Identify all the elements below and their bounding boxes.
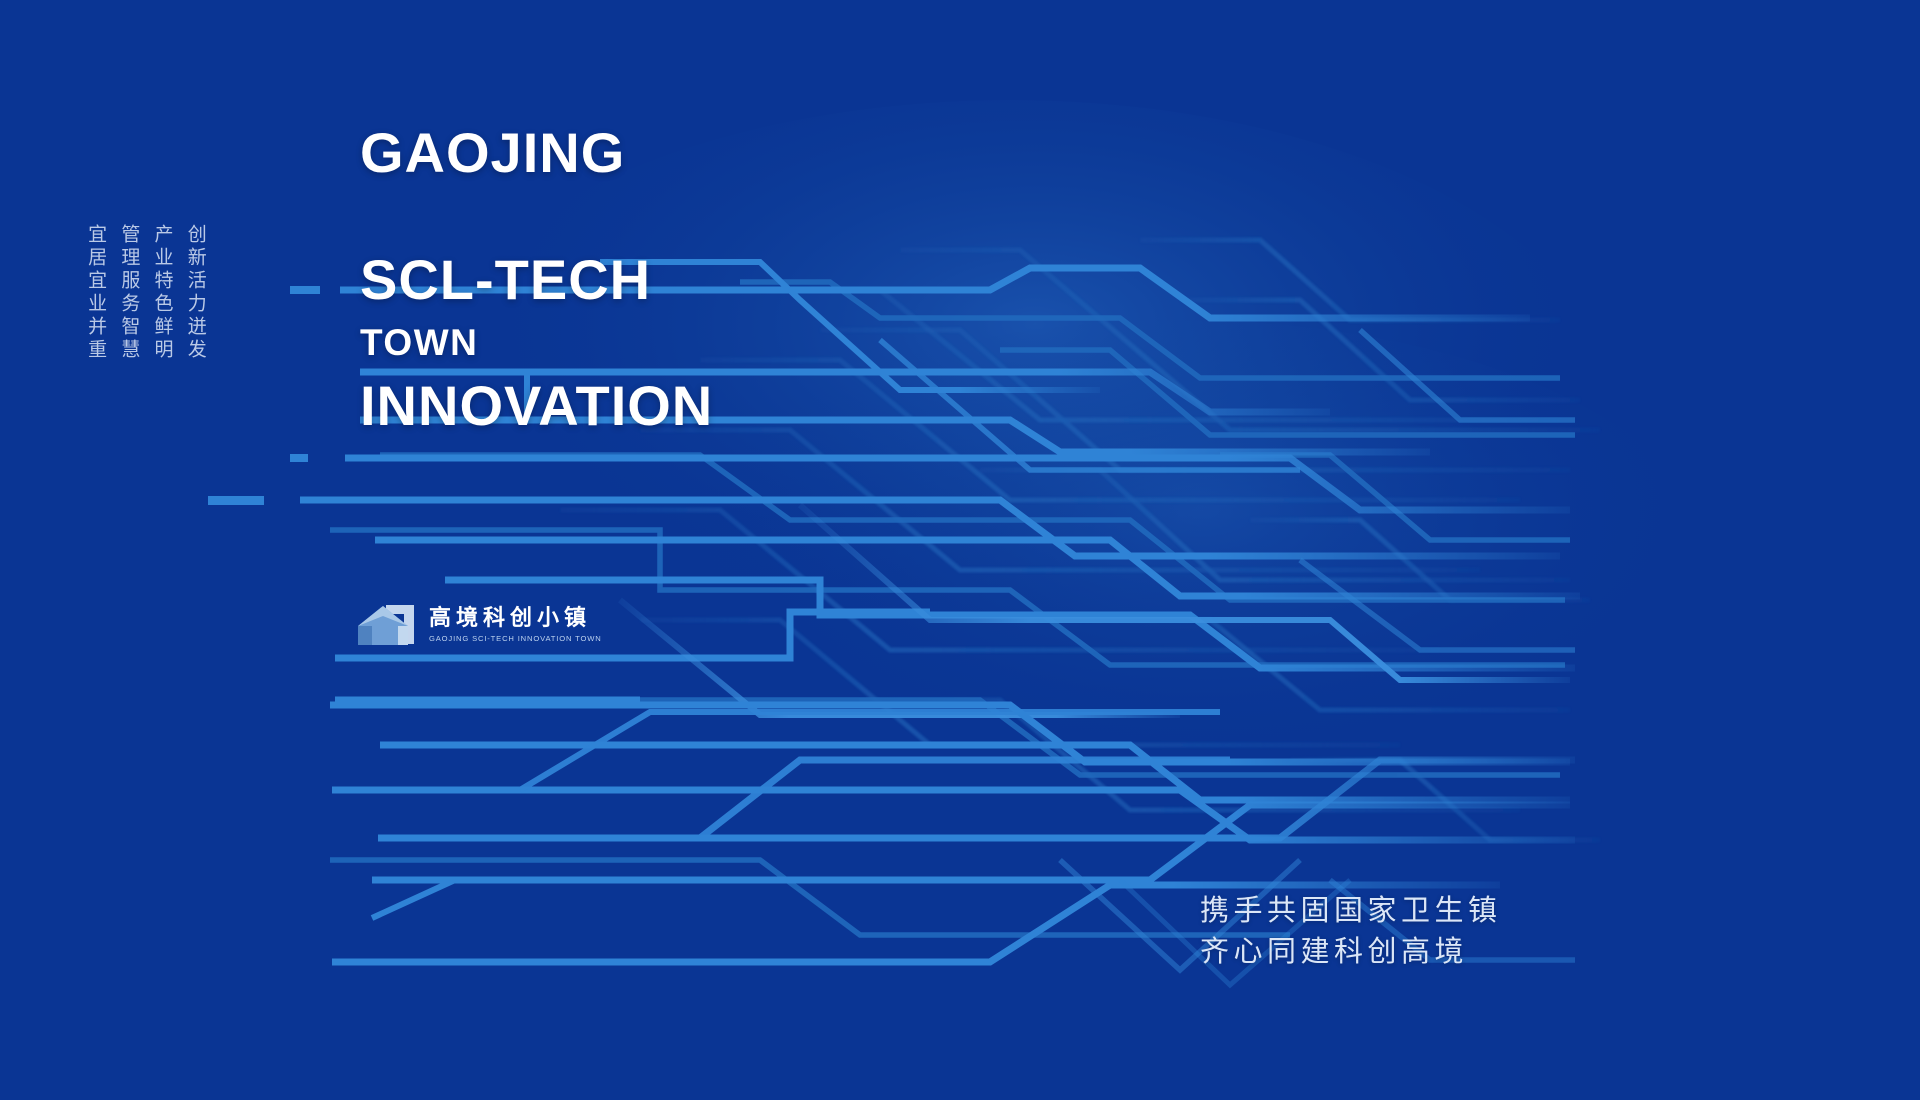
headline-line-1: GAOJING [360,121,713,184]
headline-subline: TOWN [360,322,478,364]
vertical-slogan: 创新活力迸发 产业特色鲜明 管理服务智慧 宜居宜业并重 [84,224,207,430]
bottom-slogan-line-2: 齐心同建科创高境 [1200,931,1502,972]
vertical-slogan-column-2: 产业特色鲜明 [150,224,173,430]
vertical-slogan-column-4: 宜居宜业并重 [84,224,107,430]
headline-line-2: SCL-TECH [360,248,713,311]
brand-name-cn: 高境科创小镇 [429,607,602,631]
brand-logo-text: 高境科创小镇 GAOJING SCI-TECH INNOVATION TOWN [429,607,602,643]
poster-canvas: GAOJING SCL-TECH INNOVATION TOWN 创新活力迸发 … [0,0,1920,1100]
vertical-slogan-column-1: 创新活力迸发 [184,224,207,430]
house-building-icon [356,602,418,648]
page-title: GAOJING SCL-TECH INNOVATION [360,58,713,501]
brand-logo: 高境科创小镇 GAOJING SCI-TECH INNOVATION TOWN [356,602,602,648]
brand-name-en: GAOJING SCI-TECH INNOVATION TOWN [429,634,602,643]
circuit-trace-pattern [0,0,1920,1100]
vertical-slogan-column-3: 管理服务智慧 [117,224,140,430]
left-dash-3 [208,496,264,505]
bottom-slogan: 携手共固国家卫生镇 齐心同建科创高境 [1200,890,1502,972]
left-dash-2 [290,454,308,462]
left-dash-1 [290,286,320,294]
headline-line-3: INNOVATION [360,374,713,437]
bottom-slogan-line-1: 携手共固国家卫生镇 [1200,890,1502,931]
